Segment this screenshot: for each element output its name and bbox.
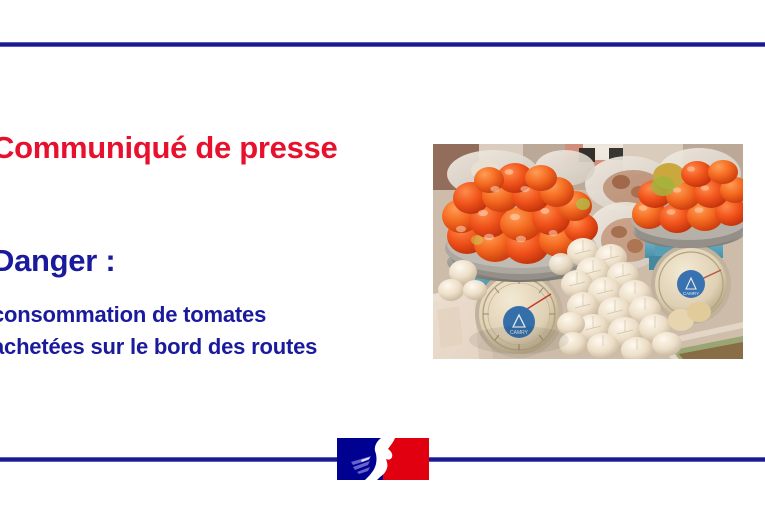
french-flag-marianne-icon bbox=[337, 438, 429, 480]
marianne-logo bbox=[337, 438, 429, 480]
subline-2: achetées sur le bord des routes bbox=[0, 331, 422, 363]
photo-artwork: CAMRY bbox=[433, 144, 743, 359]
banner-page: Communiqué de presse Danger : consommati… bbox=[0, 0, 765, 510]
text-block: Communiqué de presse Danger : consommati… bbox=[0, 132, 422, 363]
headline: Danger : bbox=[0, 165, 422, 278]
kicker-title: Communiqué de presse bbox=[0, 132, 422, 165]
top-divider bbox=[0, 42, 765, 47]
market-tomatoes-photo: CAMRY bbox=[433, 144, 743, 359]
subline-1: consommation de tomates bbox=[0, 277, 422, 331]
